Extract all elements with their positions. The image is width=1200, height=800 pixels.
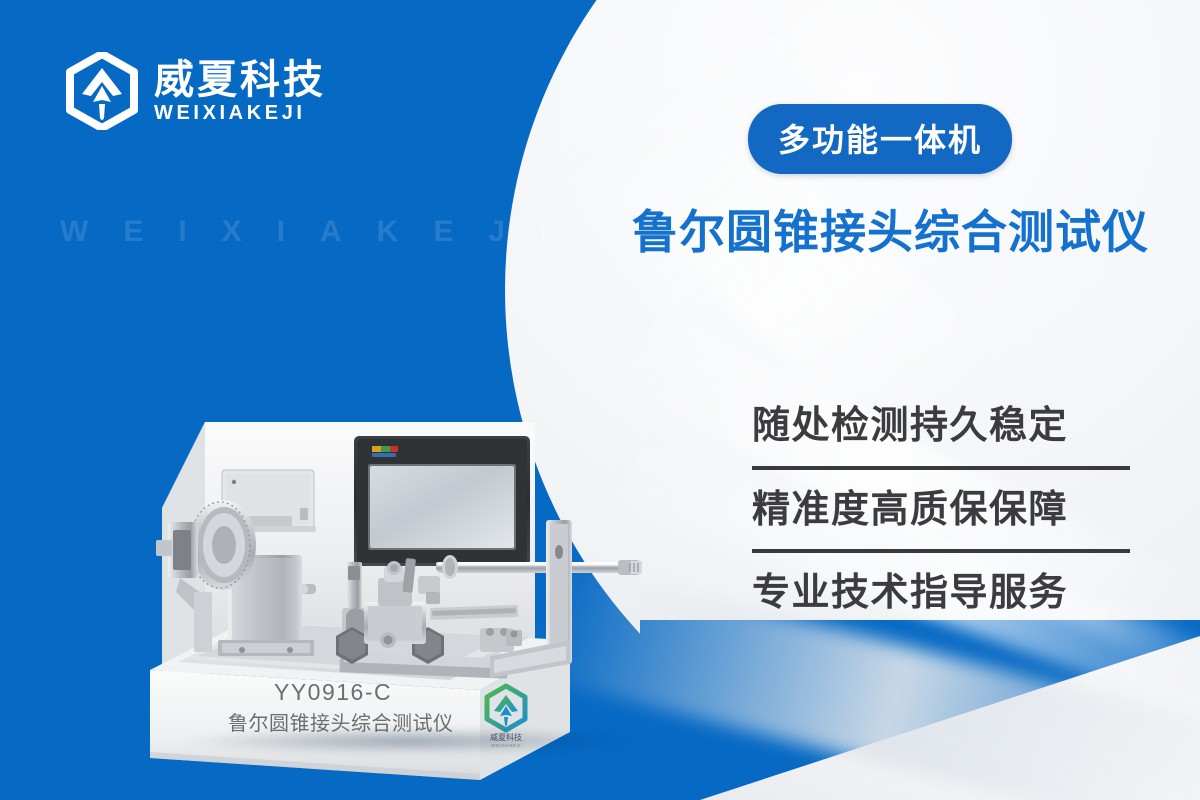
product-headline: 鲁尔圆锥接头综合测试仪: [632, 196, 1149, 262]
feature-badge-pill: 多功能一体机: [748, 104, 1012, 174]
feature-list: 随处检测持久稳定 精准度高质保保障 专业技术指导服务: [752, 396, 1134, 627]
feature-separator: [752, 549, 1130, 553]
feature-separator: [752, 466, 1130, 470]
product-photo: YY0916-C 鲁尔圆锥接头综合测试仪 威夏科技 WEIXIAKEJI: [150, 340, 690, 780]
hexagon-arrow-logo-icon: [66, 52, 138, 130]
poster-canvas: WEIXIAKEJI 威夏科技 WEIXIAKEJI 多功能一体机 鲁尔圆锥接头…: [0, 0, 1200, 800]
brand-logo: 威夏科技 WEIXIAKEJI: [66, 52, 326, 130]
brand-name-cn: 威夏科技: [154, 59, 326, 101]
product-model-label: YY0916-C: [274, 679, 392, 705]
brand-text: 威夏科技 WEIXIAKEJI: [154, 59, 326, 123]
feature-item: 随处检测持久稳定: [752, 396, 1134, 460]
brand-name-en: WEIXIAKEJI: [154, 103, 326, 123]
product-shadow: [180, 728, 640, 754]
machine-illustration: YY0916-C 鲁尔圆锥接头综合测试仪 威夏科技 WEIXIAKEJI: [150, 340, 690, 780]
feature-item: 专业技术指导服务: [752, 563, 1134, 627]
feature-item: 精准度高质保保障: [752, 480, 1134, 544]
